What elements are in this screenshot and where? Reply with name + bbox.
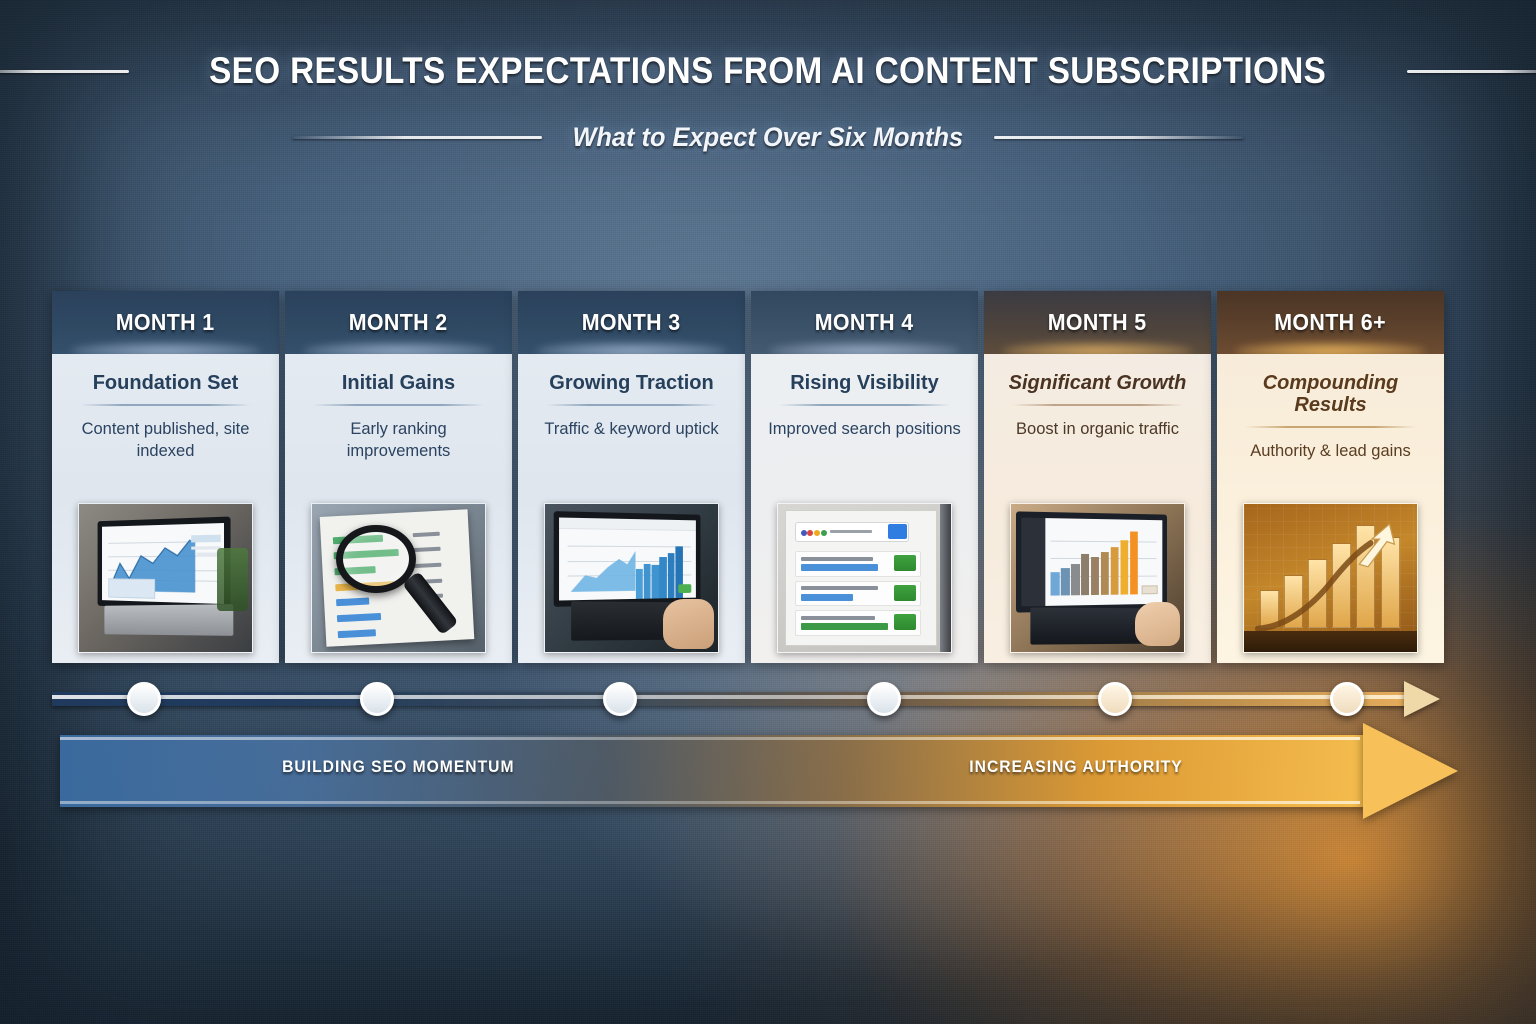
card-title: Rising Visibility (790, 372, 939, 394)
timeline-dot-6[interactable] (1330, 682, 1364, 716)
card-description: Traffic & keyword uptick (544, 418, 718, 440)
card-title: Compounding Results (1229, 372, 1432, 416)
title-rule-right (1407, 70, 1536, 73)
timeline-dot-1[interactable] (127, 682, 161, 716)
timeline-dot-3[interactable] (603, 682, 637, 716)
card-title: Initial Gains (342, 372, 455, 394)
month-card-4-body: Rising Visibility Improved search positi… (751, 354, 978, 663)
card-description: Boost in organic traffic (1016, 418, 1179, 440)
month-card-5[interactable]: MONTH 5 Significant Growth Boost in orga… (984, 291, 1211, 663)
timeline-track (52, 676, 1452, 722)
subtitle-row: What to Expect Over Six Months (0, 122, 1536, 153)
month-card-4-header: MONTH 4 (751, 291, 978, 354)
month-card-5-body: Significant Growth Boost in organic traf… (984, 354, 1211, 663)
month-card-2-header: MONTH 2 (285, 291, 512, 354)
laptop-rising-traffic-chart-photo (544, 503, 719, 653)
card-description: Early ranking improvements (297, 418, 500, 463)
month-card-6[interactable]: MONTH 6+ Compounding Results Authority &… (1217, 291, 1444, 663)
month-card-2[interactable]: MONTH 2 Initial Gains Early ranking impr… (285, 291, 512, 663)
card-divider (546, 404, 717, 406)
momentum-arrowhead-icon (1363, 723, 1458, 819)
gold-growth-bars-arrow-illustration (1243, 503, 1418, 653)
month-card-6-body: Compounding Results Authority & lead gai… (1217, 354, 1444, 663)
card-description: Improved search positions (768, 418, 961, 440)
card-title: Significant Growth (1009, 372, 1187, 394)
subtitle-rule-right (994, 136, 1244, 139)
timeline-dot-5[interactable] (1098, 682, 1132, 716)
timeline-dot-4[interactable] (867, 682, 901, 716)
title-row: SEO RESULTS EXPECTATIONS FROM AI CONTENT… (0, 50, 1536, 92)
magnifying-glass-ranking-report-photo (311, 503, 486, 653)
subtitle-rule-left (292, 136, 542, 139)
laptop-analytics-dashboard-photo (78, 503, 253, 653)
momentum-arrow-bottom-edge (60, 801, 1360, 804)
header: SEO RESULTS EXPECTATIONS FROM AI CONTENT… (0, 50, 1536, 153)
search-results-positions-mockup (777, 503, 952, 653)
card-divider (779, 404, 950, 406)
card-divider (1012, 404, 1183, 406)
laptop-organic-traffic-bar-chart-photo (1010, 503, 1185, 653)
month-label: MONTH 3 (582, 309, 681, 336)
month-card-3[interactable]: MONTH 3 Growing Traction Traffic & keywo… (518, 291, 745, 663)
month-label: MONTH 5 (1048, 309, 1147, 336)
month-card-2-body: Initial Gains Early ranking improvements (285, 354, 512, 663)
month-card-3-header: MONTH 3 (518, 291, 745, 354)
timeline-highlight (52, 695, 1412, 699)
momentum-arrow: BUILDING SEO MOMENTUM INCREASING AUTHORI… (60, 735, 1460, 807)
page-title: SEO RESULTS EXPECTATIONS FROM AI CONTENT… (209, 50, 1326, 92)
card-title: Growing Traction (549, 372, 713, 394)
month-label: MONTH 4 (815, 309, 914, 336)
month-card-1[interactable]: MONTH 1 Foundation Set Content published… (52, 291, 279, 663)
card-title: Foundation Set (93, 372, 239, 394)
momentum-arrow-top-edge (60, 737, 1360, 740)
card-description: Content published, site indexed (64, 418, 267, 463)
month-card-1-body: Foundation Set Content published, site i… (52, 354, 279, 663)
month-label: MONTH 6+ (1275, 309, 1387, 336)
card-divider (1245, 426, 1416, 428)
month-card-1-header: MONTH 1 (52, 291, 279, 354)
card-divider (80, 404, 251, 406)
page-subtitle: What to Expect Over Six Months (573, 122, 964, 153)
timeline-dot-2[interactable] (360, 682, 394, 716)
card-divider (313, 404, 484, 406)
month-label: MONTH 1 (116, 309, 215, 336)
month-cards-row: MONTH 1 Foundation Set Content published… (52, 291, 1444, 663)
infographic-root: SEO RESULTS EXPECTATIONS FROM AI CONTENT… (0, 0, 1536, 1024)
month-label: MONTH 2 (349, 309, 448, 336)
month-card-3-body: Growing Traction Traffic & keyword uptic… (518, 354, 745, 663)
momentum-label-right: INCREASING AUTHORITY (969, 757, 1182, 777)
card-description: Authority & lead gains (1250, 440, 1411, 462)
timeline-arrowhead-icon (1404, 681, 1440, 717)
month-card-5-header: MONTH 5 (984, 291, 1211, 354)
month-card-4[interactable]: MONTH 4 Rising Visibility Improved searc… (751, 291, 978, 663)
month-card-6-header: MONTH 6+ (1217, 291, 1444, 354)
title-rule-left (0, 70, 129, 73)
momentum-label-left: BUILDING SEO MOMENTUM (282, 757, 514, 777)
